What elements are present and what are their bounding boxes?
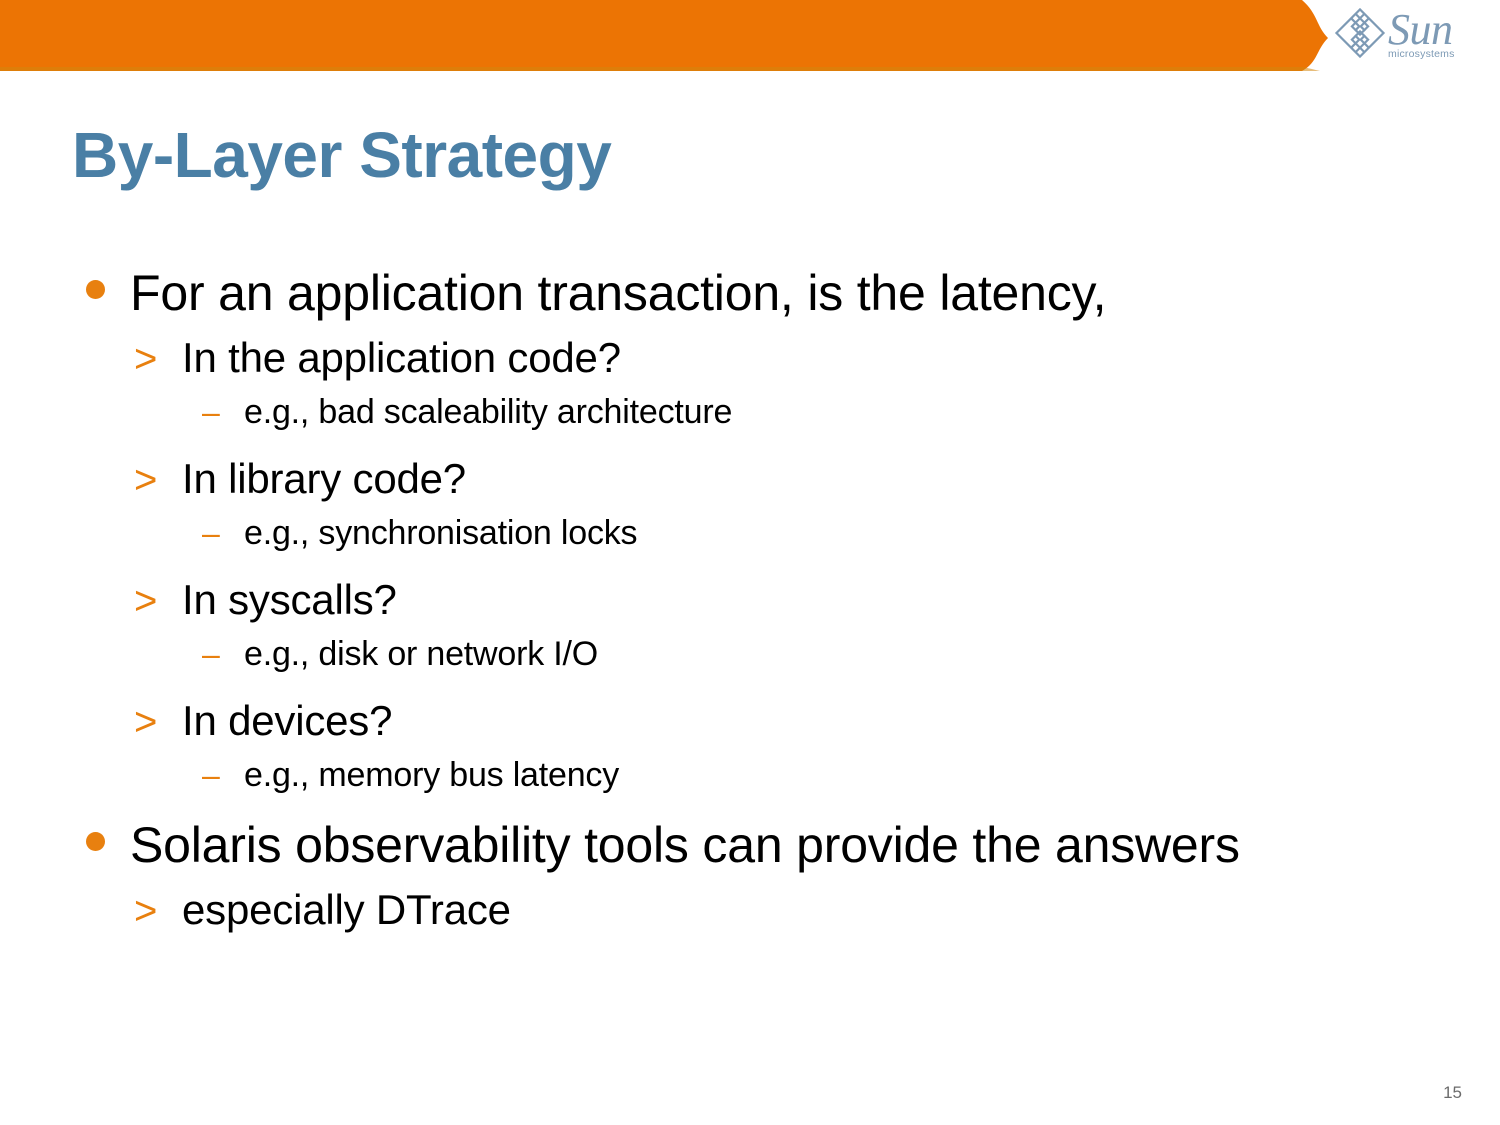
bullet-dot-icon — [72, 271, 130, 317]
chevron-right-icon: > — [134, 452, 182, 508]
bullet-level2: > In the application code? — [134, 330, 1442, 387]
header-orange-band — [0, 0, 1500, 76]
bullet-text: For an application transaction, is the l… — [130, 262, 1106, 324]
chevron-right-icon: > — [134, 331, 182, 387]
chevron-right-icon: > — [134, 883, 182, 939]
bullet-level3: – e.g., synchronisation locks — [202, 508, 1442, 558]
page-title: By-Layer Strategy — [72, 118, 611, 192]
sun-wordmark-text: Sun — [1388, 8, 1456, 52]
dash-icon: – — [202, 750, 244, 800]
bullet-level2: > In library code? — [134, 451, 1442, 508]
bullet-level2: > especially DTrace — [134, 882, 1442, 939]
bullet-text: In syscalls? — [182, 572, 397, 628]
dash-icon: – — [202, 508, 244, 558]
bullet-level2: > In syscalls? — [134, 572, 1442, 629]
bullet-level3: – e.g., memory bus latency — [202, 750, 1442, 800]
bullet-text: e.g., synchronisation locks — [244, 508, 637, 558]
bullet-text: especially DTrace — [182, 882, 511, 938]
bullet-text: Solaris observability tools can provide … — [130, 814, 1240, 876]
bullet-level3: – e.g., disk or network I/O — [202, 629, 1442, 679]
bullet-text: In devices? — [182, 693, 392, 749]
dash-icon: – — [202, 387, 244, 437]
bullet-level1: Solaris observability tools can provide … — [72, 814, 1442, 876]
bullet-text: In the application code? — [182, 330, 621, 386]
bullet-dot-icon — [72, 823, 130, 869]
sun-logo-mark-icon — [1334, 7, 1386, 59]
chevron-right-icon: > — [134, 694, 182, 750]
sun-logo: Sun microsystems — [1334, 7, 1474, 69]
chevron-right-icon: > — [134, 573, 182, 629]
dash-icon: – — [202, 629, 244, 679]
bullet-list: For an application transaction, is the l… — [72, 262, 1442, 939]
page-number: 15 — [1443, 1083, 1462, 1103]
bullet-text: e.g., bad scaleability architecture — [244, 387, 732, 437]
bullet-level2: > In devices? — [134, 693, 1442, 750]
bullet-level3: – e.g., bad scaleability architecture — [202, 387, 1442, 437]
sun-wordmark: Sun microsystems — [1388, 8, 1456, 60]
slide: Sun microsystems By-Layer Strategy For a… — [0, 0, 1500, 1125]
sun-tagline-text: microsystems — [1388, 49, 1455, 60]
bullet-text: e.g., memory bus latency — [244, 750, 619, 800]
bullet-text: In library code? — [182, 451, 466, 507]
bullet-text: e.g., disk or network I/O — [244, 629, 598, 679]
bullet-level1: For an application transaction, is the l… — [72, 262, 1442, 324]
